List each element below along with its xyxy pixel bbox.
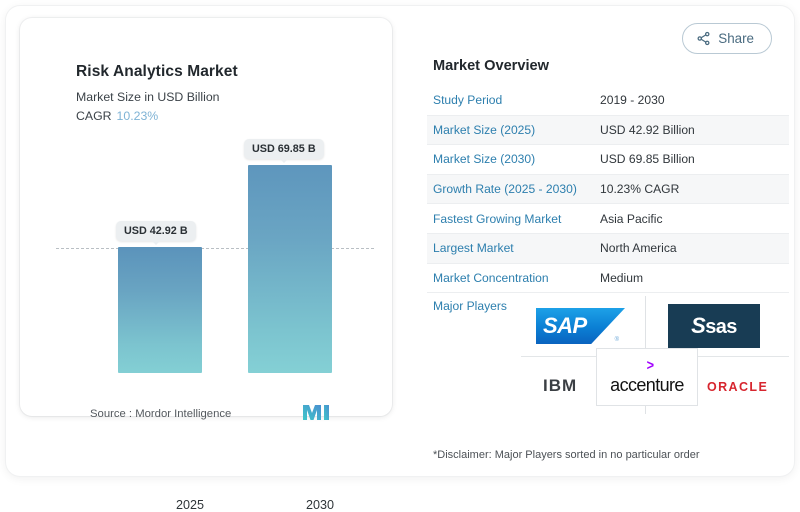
table-row: Market Size (2030) USD 69.85 Billion: [427, 145, 789, 175]
row-value: USD 42.92 Billion: [600, 123, 695, 137]
chart-title: Risk Analytics Market: [76, 63, 238, 81]
accenture-arrow-icon: >: [647, 357, 654, 374]
sap-logo-text: SAP: [543, 313, 587, 339]
row-value: USD 69.85 Billion: [600, 152, 695, 166]
table-row: Fastest Growing Market Asia Pacific: [427, 204, 789, 234]
mordor-intelligence-logo-icon: [301, 402, 331, 422]
row-value: Medium: [600, 271, 643, 285]
major-players-logo-grid: SAP ® Ssas IBM ORACLE > accenture: [521, 294, 789, 418]
accenture-logo-text: accenture: [610, 375, 684, 396]
sas-logo: Ssas: [668, 304, 760, 348]
bar-2025[interactable]: [118, 247, 202, 373]
cagr-value: 10.23%: [117, 109, 159, 123]
bar-label-2025: USD 42.92 B: [116, 221, 196, 241]
market-overview-title: Market Overview: [433, 58, 549, 74]
ibm-logo-text: IBM: [543, 376, 577, 395]
share-button[interactable]: Share: [682, 23, 772, 54]
sap-registered-mark: ®: [615, 337, 619, 343]
disclaimer-text: *Disclaimer: Major Players sorted in no …: [433, 449, 700, 461]
oracle-logo: ORACLE: [707, 380, 768, 394]
bar-label-2030: USD 69.85 B: [244, 139, 324, 159]
share-icon: [696, 31, 711, 46]
share-button-label: Share: [718, 31, 754, 46]
cagr-label: CAGR: [76, 109, 112, 123]
sap-logo: SAP ®: [536, 308, 625, 344]
bar-2030[interactable]: [248, 165, 332, 373]
chart-subtitle: Market Size in USD Billion: [76, 90, 220, 104]
oracle-logo-text: ORACLE: [707, 380, 768, 394]
table-row: Growth Rate (2025 - 2030) 10.23% CAGR: [427, 175, 789, 205]
row-key: Market Size (2030): [427, 152, 600, 166]
sas-logo-word: sas: [705, 316, 737, 338]
major-players-label: Major Players: [433, 299, 507, 313]
row-value: Asia Pacific: [600, 212, 663, 226]
grid-divider-vertical: [645, 296, 646, 352]
sas-logo-text: Ssas: [691, 313, 737, 339]
table-row: Market Size (2025) USD 42.92 Billion: [427, 116, 789, 146]
row-value: North America: [600, 241, 677, 255]
source-text: Source : Mordor Intelligence: [90, 408, 231, 420]
chart-cagr: CAGR10.23%: [76, 109, 158, 123]
chart-card: Risk Analytics Market Market Size in USD…: [20, 18, 392, 416]
ibm-logo: IBM: [543, 376, 577, 396]
row-key: Largest Market: [427, 241, 600, 255]
table-row: Largest Market North America: [427, 234, 789, 264]
table-row: Market Concentration Medium: [427, 264, 789, 294]
row-key: Study Period: [427, 93, 600, 107]
bar-chart-plot: USD 42.92 B USD 69.85 B 2025 2030: [50, 138, 380, 373]
row-key: Market Size (2025): [427, 123, 600, 137]
accenture-logo: > accenture: [596, 348, 698, 406]
row-key: Fastest Growing Market: [427, 212, 600, 226]
row-value: 2019 - 2030: [600, 93, 665, 107]
row-key: Market Concentration: [427, 271, 600, 285]
report-card: Risk Analytics Market Market Size in USD…: [6, 6, 794, 476]
row-value: 10.23% CAGR: [600, 182, 679, 196]
market-overview-table: Study Period 2019 - 2030 Market Size (20…: [427, 86, 789, 293]
x-axis-tick-2030: 2030: [278, 498, 362, 512]
table-row: Study Period 2019 - 2030: [427, 86, 789, 116]
x-axis-tick-2025: 2025: [148, 498, 232, 512]
row-key: Growth Rate (2025 - 2030): [427, 182, 600, 196]
